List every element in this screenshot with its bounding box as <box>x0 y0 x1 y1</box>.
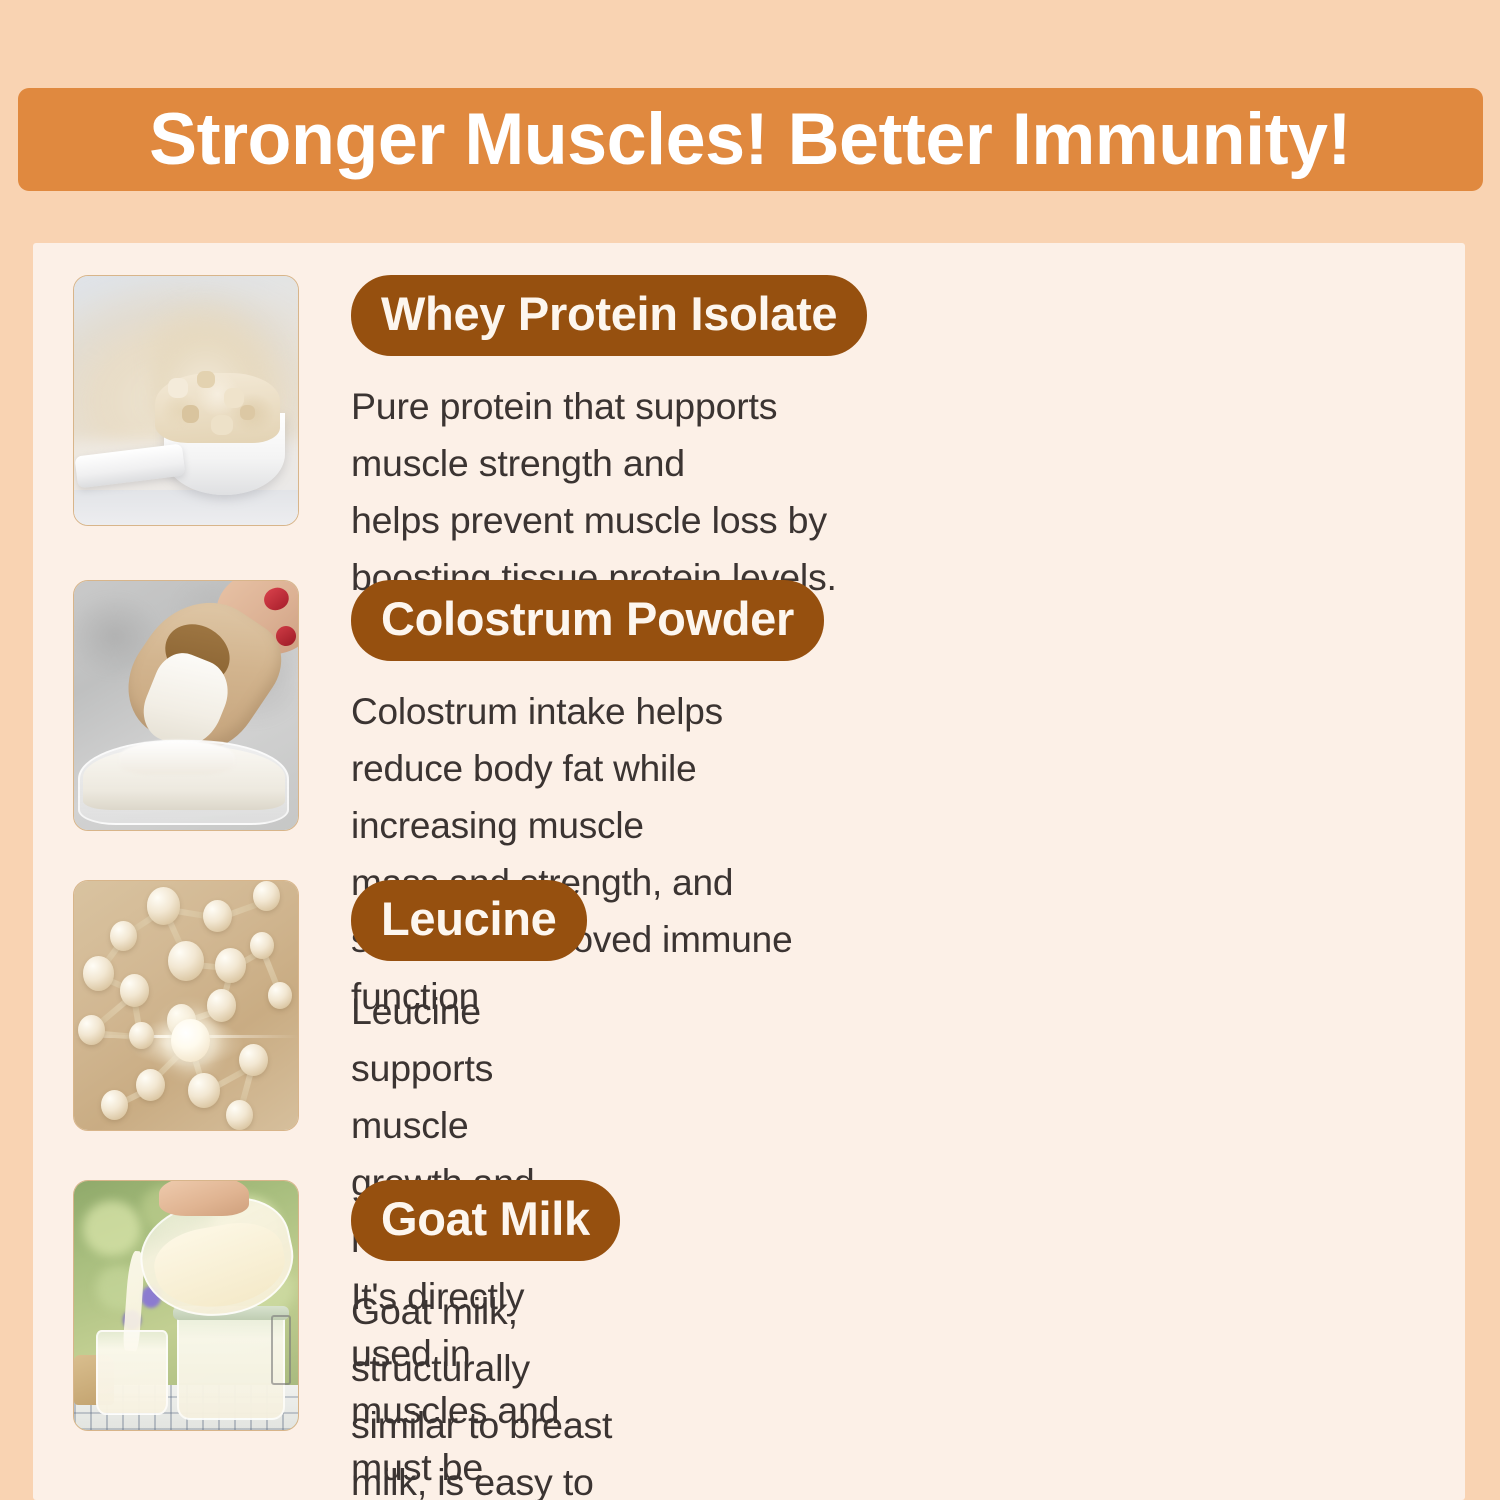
goat-milk-pouring-image <box>73 1180 299 1431</box>
ingredient-text-whey-protein-isolate: Whey Protein Isolate Pure protein that s… <box>351 275 867 606</box>
ingredient-description-whey-protein-isolate: Pure protein that supports muscle streng… <box>351 378 867 606</box>
ingredient-description-goat-milk: Goat milk, structurally similar to breas… <box>351 1283 627 1500</box>
ingredient-badge-colostrum-powder: Colostrum Powder <box>351 580 824 661</box>
ingredient-badge-whey-protein-isolate: Whey Protein Isolate <box>351 275 867 356</box>
ingredients-panel: Whey Protein Isolate Pure protein that s… <box>33 243 1465 1500</box>
ingredient-text-goat-milk: Goat Milk Goat milk, structurally simila… <box>351 1180 627 1500</box>
colostrum-powder-scoop-image <box>73 580 299 831</box>
ingredient-badge-leucine: Leucine <box>351 880 587 961</box>
infographic-page: Stronger Muscles! Better Immunity! Whey … <box>0 0 1500 1500</box>
ingredient-badge-goat-milk: Goat Milk <box>351 1180 620 1261</box>
page-title: Stronger Muscles! Better Immunity! <box>150 98 1352 181</box>
leucine-molecule-image <box>73 880 299 1131</box>
header-banner: Stronger Muscles! Better Immunity! <box>18 88 1483 191</box>
whey-protein-scoop-image <box>73 275 299 526</box>
